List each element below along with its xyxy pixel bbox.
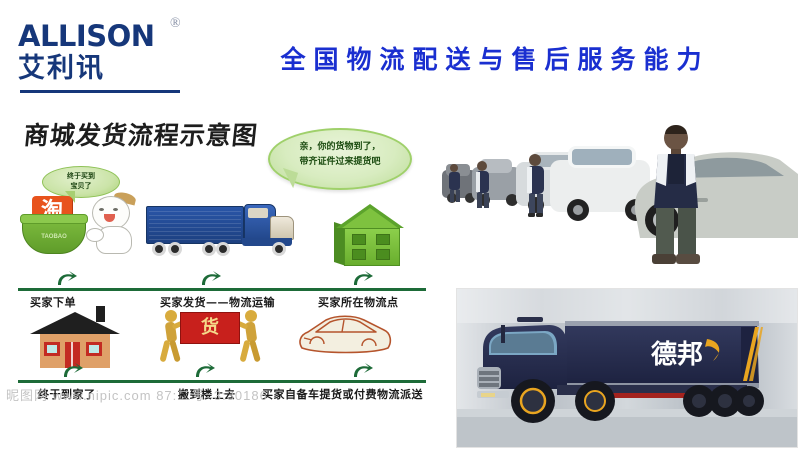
truck-wheel: [168, 242, 182, 256]
truck-hood: [270, 216, 294, 240]
home-roof: [30, 312, 120, 334]
speech-bubble-small-line-2: 宝贝了: [43, 181, 119, 191]
truck-brand-text: 德邦: [651, 340, 703, 370]
porters-carrying-cargo-icon: 货: [158, 306, 266, 368]
flow-arrow-icon: [56, 271, 78, 287]
porter-figure: [238, 310, 264, 364]
flow-arrow-icon: [194, 363, 216, 379]
house-window: [352, 234, 366, 245]
house-window: [376, 234, 390, 245]
house-window: [376, 249, 390, 260]
character-head: [92, 196, 130, 230]
speech-bubble-line-1: 亲，你的货物到了，: [270, 140, 410, 155]
flow-divider-line: [18, 380, 426, 383]
slide-root: ALLISON ® 艾利讯 全国物流配送与售后服务能力 商城发货流程示意图 亲，…: [0, 0, 800, 450]
buyer-character-icon: [86, 196, 140, 256]
cargo-box: 货: [180, 312, 240, 344]
registered-trademark-icon: ®: [170, 16, 181, 32]
taobao-sub-label: TAOBAO: [34, 234, 74, 240]
logistics-point-house-icon: [334, 204, 408, 266]
basket-lip: [20, 214, 88, 224]
flow-arrow-icon: [62, 363, 84, 379]
speech-bubble-small-text: 终于买到 宝贝了: [43, 171, 119, 191]
flow-arrow-icon: [352, 363, 374, 379]
flow-arrow-icon: [200, 271, 222, 287]
truck-wheel: [152, 242, 166, 256]
truck-wheel: [272, 242, 286, 256]
logo-wordmark: ALLISON: [18, 22, 218, 51]
shipping-flow-diagram: 商城发货流程示意图 亲，你的货物到了， 带齐证件过来提货吧 终于买到 宝贝了 淘…: [0, 108, 440, 428]
truck-wheel: [216, 242, 230, 256]
truck-trailer: [146, 206, 244, 244]
shopping-basket-icon: 淘 TAOBAO: [22, 196, 84, 254]
brand-logo: ALLISON ® 艾利讯: [18, 22, 218, 92]
stock-photo-watermark: 昵图网 www.nipic.com 87:二号=3:30186: [6, 385, 426, 407]
flow-arrow-icon: [352, 271, 374, 287]
character-eye-right: [113, 208, 118, 211]
flow-divider-line: [18, 288, 426, 291]
character-arm: [86, 228, 104, 242]
buyer-home-icon: [34, 304, 116, 368]
speech-bubble-small-line-1: 终于买到: [43, 171, 119, 181]
home-window: [86, 342, 102, 356]
truck-window: [248, 208, 268, 218]
house-window: [352, 249, 366, 260]
trailer-ribs: [149, 211, 241, 243]
fleet-and-staff-photo: [440, 112, 798, 280]
speech-bubble-text: 亲，你的货物到了， 带齐证件过来提货吧: [270, 140, 410, 170]
buyer-car-sketch-icon: [292, 308, 396, 364]
truck-wheel: [202, 242, 216, 256]
deppon-truck-photo: 德邦: [456, 288, 798, 448]
speech-bubble-logistics-notice: 亲，你的货物到了， 带齐证件过来提货吧: [268, 128, 412, 190]
semi-truck-icon: [146, 204, 294, 262]
logo-underline: [20, 90, 180, 93]
house-roof-front: [342, 208, 398, 228]
speech-bubble-tail: [278, 168, 298, 188]
logo-chinese-name: 艾利讯: [18, 55, 218, 82]
home-window: [44, 342, 60, 356]
cargo-box-label: 货: [181, 315, 239, 341]
diagram-title: 商城发货流程示意图: [22, 116, 260, 152]
character-eye-left: [99, 208, 104, 211]
speech-bubble-line-2: 带齐证件过来提货吧: [270, 155, 410, 170]
speech-bubble-buyer-happy: 终于买到 宝贝了: [42, 166, 120, 198]
page-title: 全国物流配送与售后服务能力: [235, 40, 755, 76]
